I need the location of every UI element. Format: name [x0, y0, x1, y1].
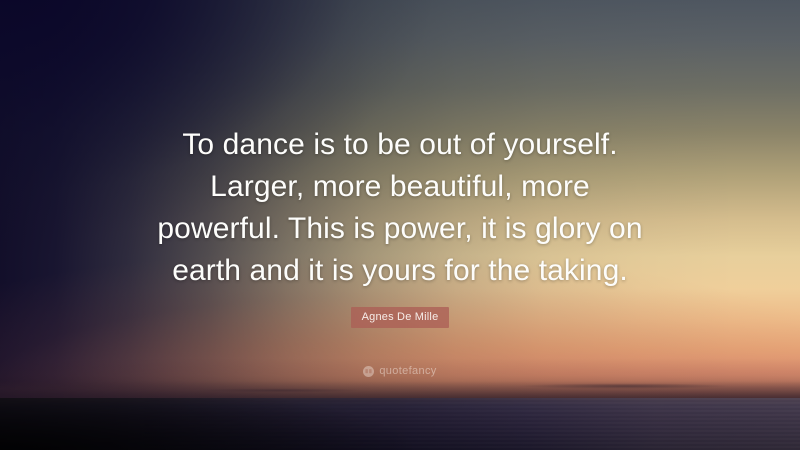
quote-author-badge[interactable]: Agnes De Mille — [351, 307, 450, 328]
quote-line: To dance is to be out of yourself. — [0, 124, 800, 166]
quote-poster: To dance is to be out of yourself. Large… — [0, 0, 800, 450]
quote-line: Larger, more beautiful, more — [0, 166, 800, 208]
brand-watermark[interactable]: quotefancy — [0, 366, 800, 377]
quote-mark-circle-icon — [363, 366, 374, 377]
brand-name: quotefancy — [379, 366, 436, 377]
poster-content: To dance is to be out of yourself. Large… — [0, 0, 800, 450]
quote-text: To dance is to be out of yourself. Large… — [0, 124, 800, 292]
quote-line: earth and it is yours for the taking. — [0, 250, 800, 292]
attribution-area: Agnes De Mille — [0, 307, 800, 328]
quote-line: powerful. This is power, it is glory on — [0, 208, 800, 250]
